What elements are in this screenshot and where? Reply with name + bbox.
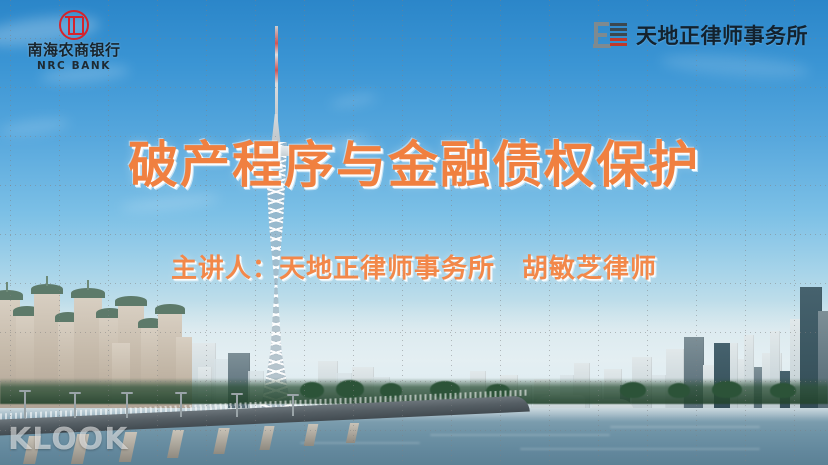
zheng-character-mark-icon — [593, 22, 627, 48]
klook-watermark: KLOOK — [8, 422, 129, 457]
page-title: 破产程序与金融债权保护 — [0, 138, 828, 193]
presentation-slide: 南海农商银行 NRC BANK 天地正律师事务所 破产程序与金融债权保护 主讲人… — [0, 0, 828, 465]
cloud — [659, 51, 810, 81]
bank-logo: 南海农商银行 NRC BANK — [14, 10, 134, 73]
bank-emblem-icon — [59, 10, 89, 40]
law-firm-name: 天地正律师事务所 — [636, 20, 808, 50]
bank-name-en: NRC BANK — [14, 59, 134, 74]
bank-name-cn: 南海农商银行 — [14, 42, 134, 59]
title-block: 破产程序与金融债权保护 — [0, 138, 828, 193]
law-firm-logo: 天地正律师事务所 — [593, 20, 808, 50]
cloud — [330, 92, 379, 109]
tower-antenna — [275, 26, 278, 122]
page-subtitle: 主讲人：天地正律师事务所 胡敏芝律师 — [0, 248, 828, 285]
canton-tower — [241, 26, 311, 418]
